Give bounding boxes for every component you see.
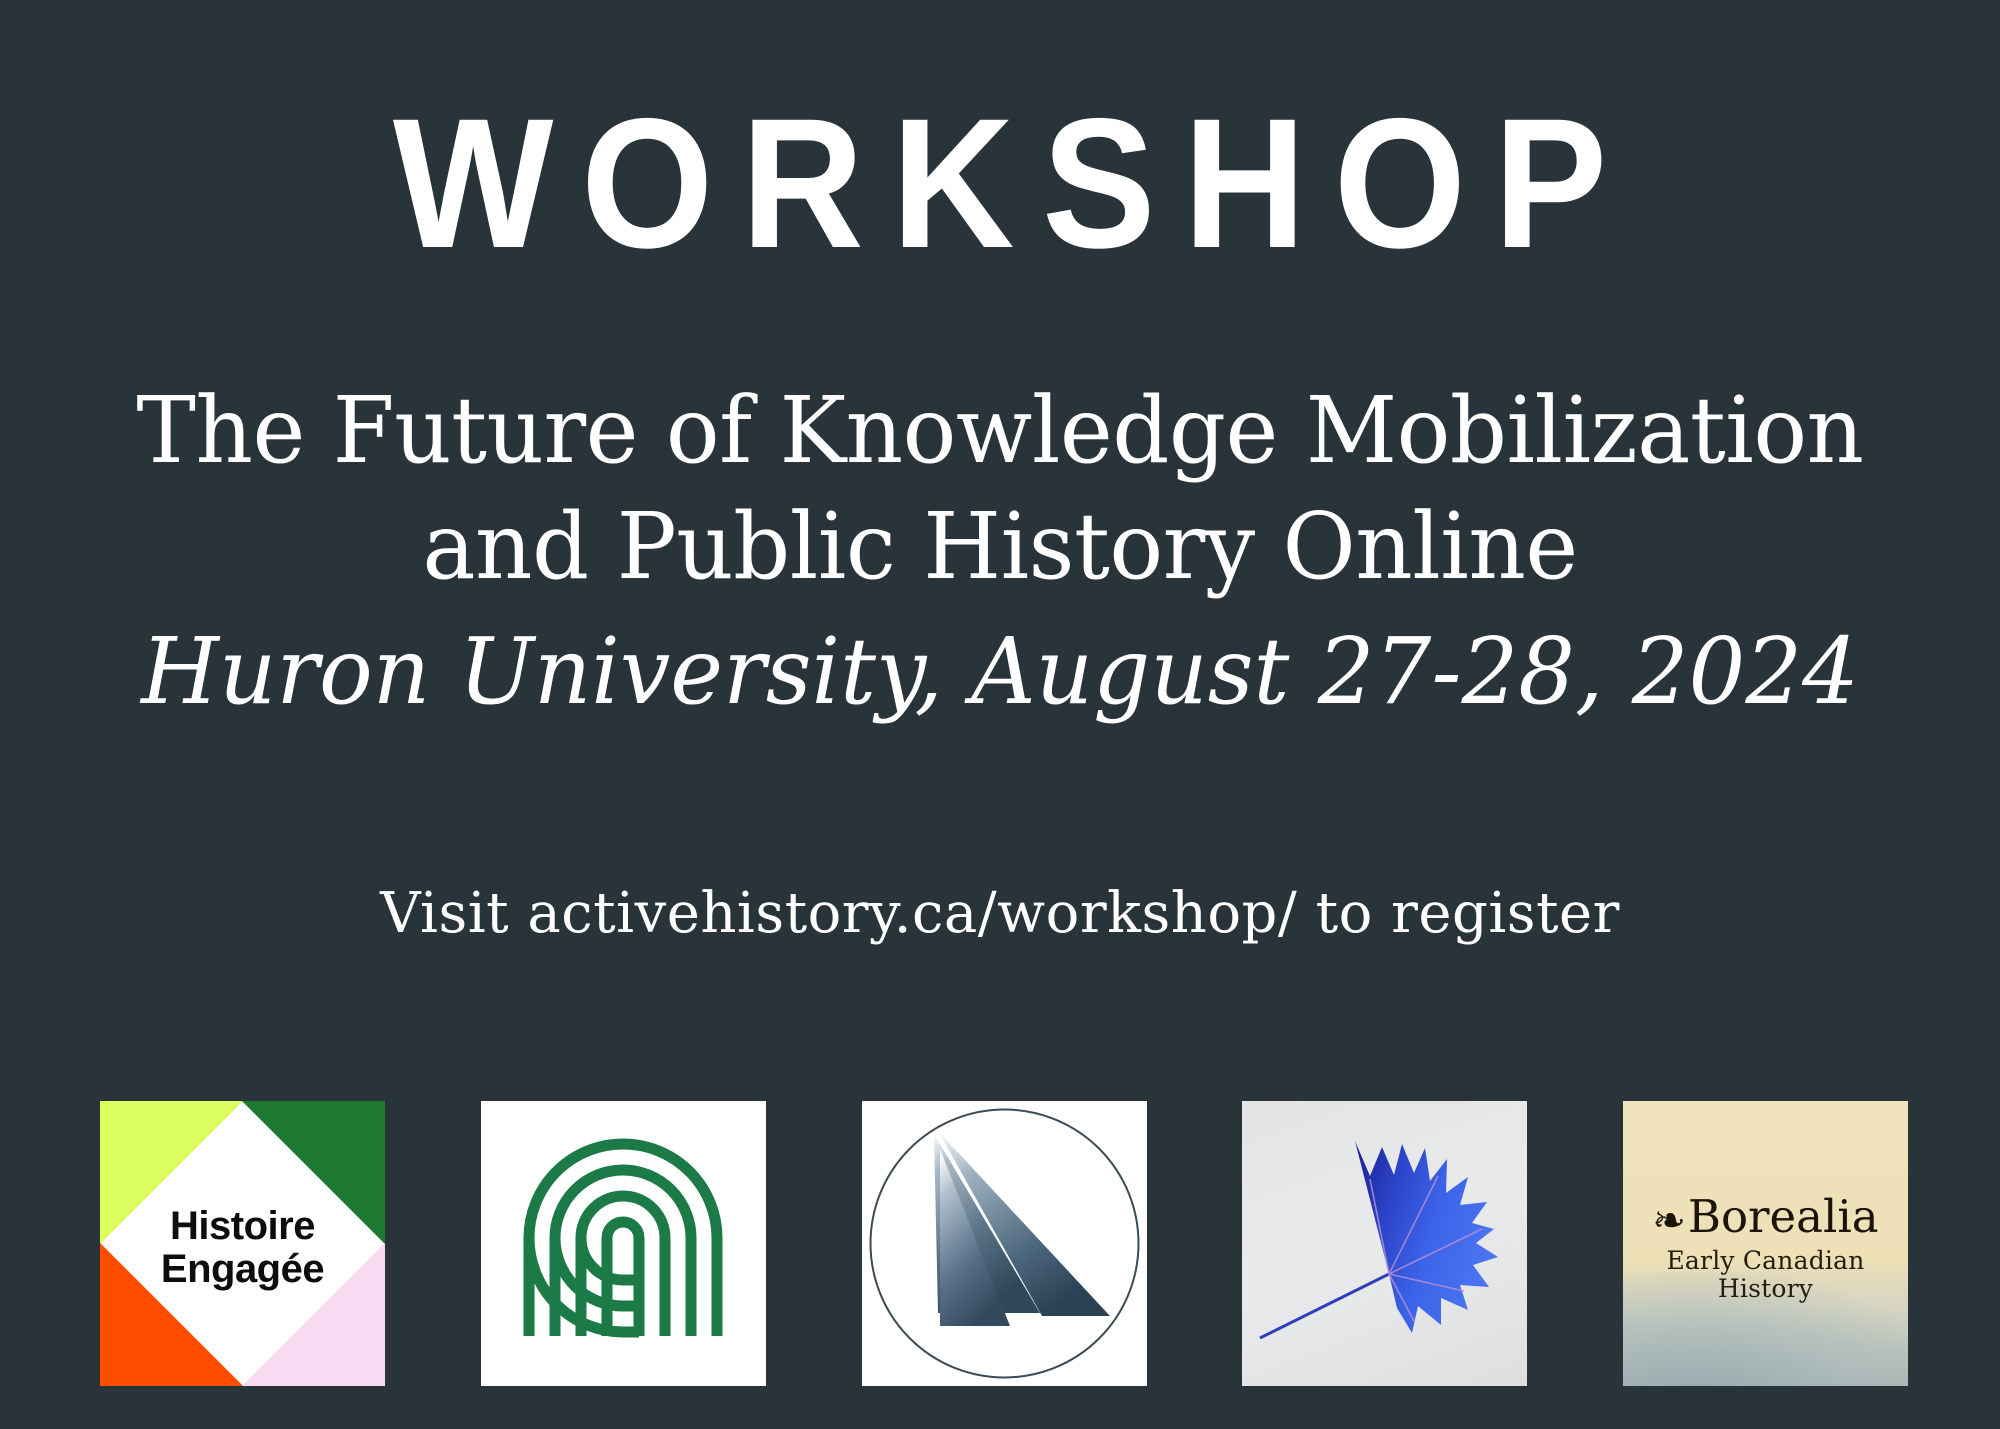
he-wordmark: Histoire Engagée (100, 1205, 385, 1291)
borealia-tagline: Early Canadian History (1623, 1247, 1908, 1303)
title-line-2: and Public History Online (30, 489, 1970, 605)
registration-info: Visit activehistory.ca/workshop/ to regi… (0, 878, 2000, 950)
sails-circle-icon (862, 1101, 1147, 1386)
title-line-1: The Future of Knowledge Mobilization (30, 373, 1970, 489)
flourish-icon: ❧ (1652, 1198, 1686, 1244)
logo-active-history[interactable] (481, 1101, 766, 1386)
spiral-a-icon (481, 1101, 766, 1386)
logo-strip: Histoire Engagée (100, 1101, 1908, 1386)
page-title: WORKSHOP (80, 92, 1920, 277)
workshop-poster: WORKSHOP The Future of Knowledge Mobiliz… (0, 0, 2000, 1429)
borealia-wordmark: ❧Borealia (1623, 1193, 1908, 1245)
logo-histoire-engagee[interactable]: Histoire Engagée (100, 1101, 385, 1386)
he-wordmark-line-1: Histoire (100, 1205, 385, 1248)
logo-blue-maple-leaf[interactable] (1242, 1101, 1527, 1386)
maple-leaf-icon (1242, 1101, 1527, 1386)
title-block: The Future of Knowledge Mobilization and… (0, 373, 2000, 733)
borealia-title-text: Borealia (1688, 1190, 1879, 1243)
subtitle-venue-dates: Huron University, August 27-28, 2024 (30, 611, 1970, 733)
logo-sails-mark[interactable] (862, 1101, 1147, 1386)
logo-borealia[interactable]: ❧Borealia Early Canadian History (1623, 1101, 1908, 1386)
he-wordmark-line-2: Engagée (100, 1248, 385, 1291)
